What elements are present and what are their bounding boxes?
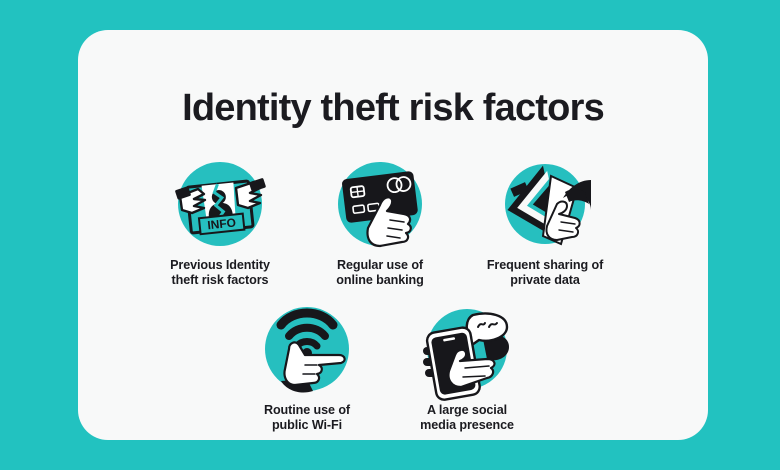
infographic-canvas: Identity theft risk factors: [0, 0, 780, 470]
smartphone-speech-bubble-icon: [421, 303, 513, 395]
torn-id-card-info-icon: INFO: [174, 158, 266, 250]
risk-factor-item-public-wifi: Routine use of public Wi-Fi: [217, 303, 397, 432]
risk-factor-label: Regular use of online banking: [290, 258, 470, 287]
risk-factor-label: Previous Identity theft risk factors: [130, 258, 310, 287]
risk-factor-label: Routine use of public Wi-Fi: [217, 403, 397, 432]
document-sharing-hands-icon: [499, 158, 591, 250]
page-title: Identity theft risk factors: [78, 85, 708, 131]
risk-factor-item-social-media: A large social media presence: [377, 303, 557, 432]
risk-factor-label: A large social media presence: [377, 403, 557, 432]
wifi-pointing-hand-icon: [261, 303, 353, 395]
info-card-text: INFO: [207, 215, 237, 232]
content-card: Identity theft risk factors: [78, 30, 708, 440]
risk-factor-item-previous-identity-theft: INFO Previous Identity theft risk factor…: [130, 158, 310, 287]
risk-factor-item-online-banking: Regular use of online banking: [290, 158, 470, 287]
risk-factor-label: Frequent sharing of private data: [455, 258, 635, 287]
risk-factor-item-private-data-sharing: Frequent sharing of private data: [455, 158, 635, 287]
credit-card-hand-icon: [334, 158, 426, 250]
